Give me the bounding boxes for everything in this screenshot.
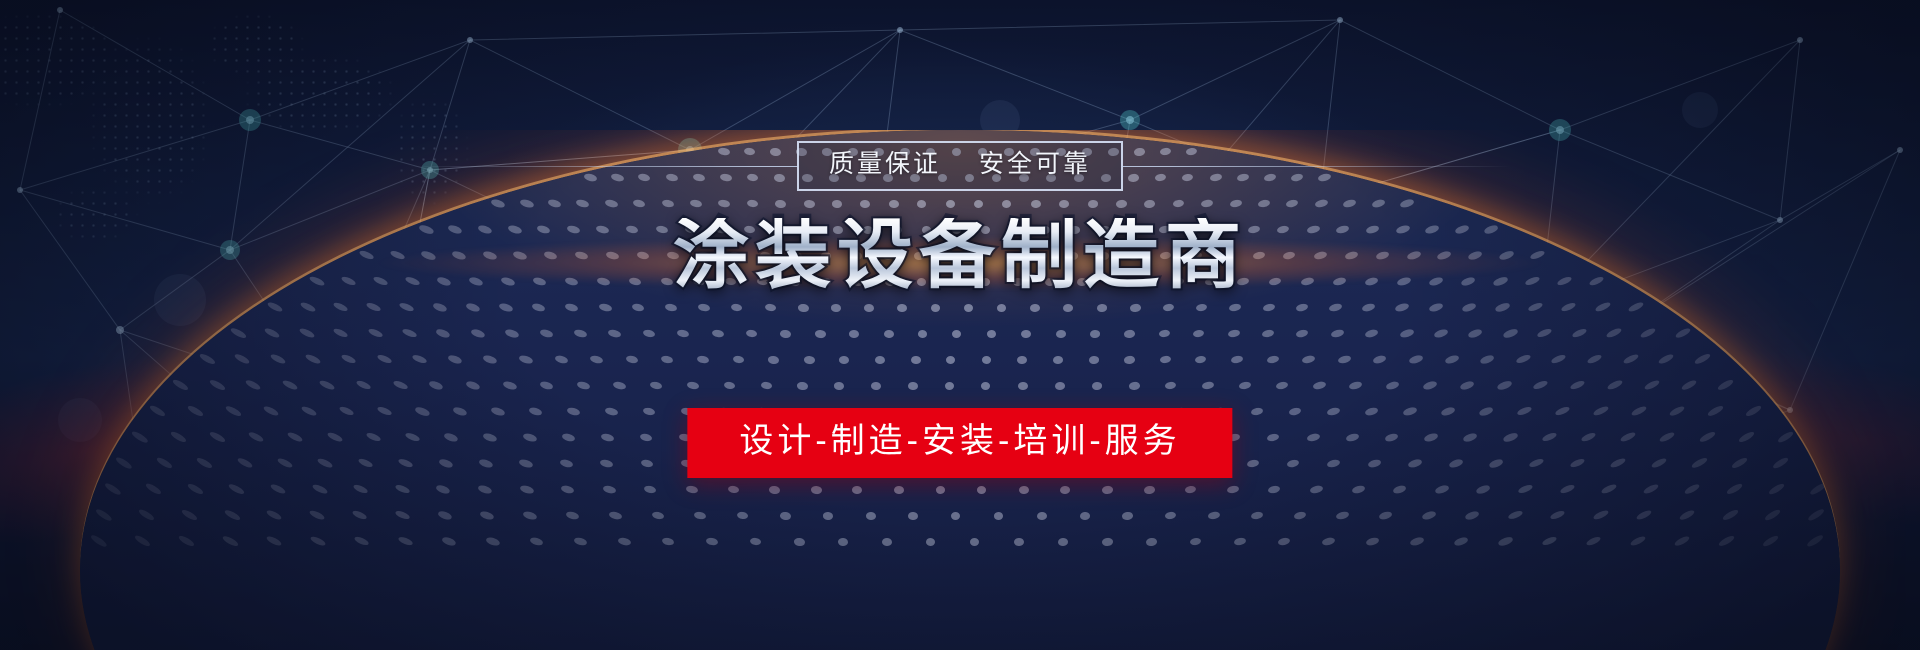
tagline-item-safety: 安全可靠	[979, 152, 1091, 177]
tagline-box: 质量保证 安全可靠	[797, 141, 1123, 191]
tagline-rule-right	[1122, 166, 1510, 167]
hero-banner: 质量保证 安全可靠 涂装设备制造商 涂装设备制造商 设计-制造-安装-培训-服务	[0, 0, 1920, 650]
tagline-item-quality: 质量保证	[829, 152, 941, 177]
tagline-rule-left	[410, 166, 798, 167]
tagline-row: 质量保证 安全可靠	[410, 141, 1510, 191]
page-title: 涂装设备制造商	[0, 218, 1920, 294]
banner-content: 质量保证 安全可靠 涂装设备制造商 涂装设备制造商 设计-制造-安装-培训-服务	[0, 0, 1920, 650]
services-banner-label: 设计-制造-安装-培训-服务	[739, 422, 1180, 460]
services-banner[interactable]: 设计-制造-安装-培训-服务	[687, 408, 1232, 478]
